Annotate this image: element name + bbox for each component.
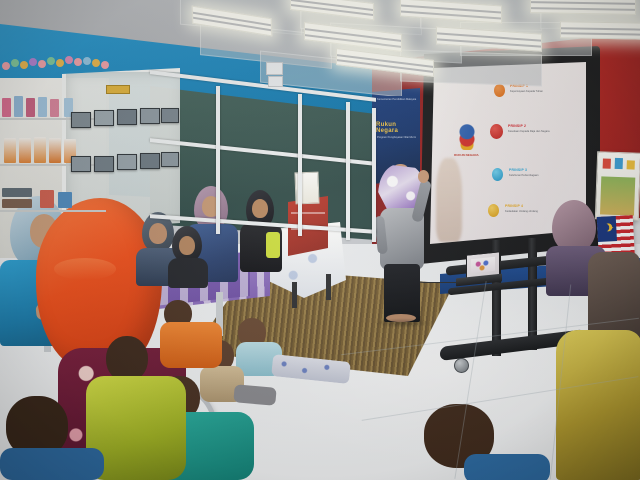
banner-line-top: Kementerian Pendidikan Malaysia: [377, 98, 417, 101]
ceiling-light: [560, 21, 640, 40]
wall-socket[interactable]: [268, 76, 283, 87]
wall-switch[interactable]: [266, 62, 283, 75]
partition-frame: [150, 72, 376, 244]
banner-line-bottom: Program Penghayatan Nilai Murni: [377, 136, 417, 139]
banner-heading: Rukun Negara: [376, 122, 420, 134]
photo-scene: Kementerian Pendidikan Malaysia Rukun Ne…: [0, 0, 640, 480]
screen-reflection-presenter: [436, 158, 462, 242]
floor-tile-seams: [0, 244, 640, 480]
presenter-hand: [418, 170, 429, 183]
ceiling-light: [530, 0, 636, 15]
